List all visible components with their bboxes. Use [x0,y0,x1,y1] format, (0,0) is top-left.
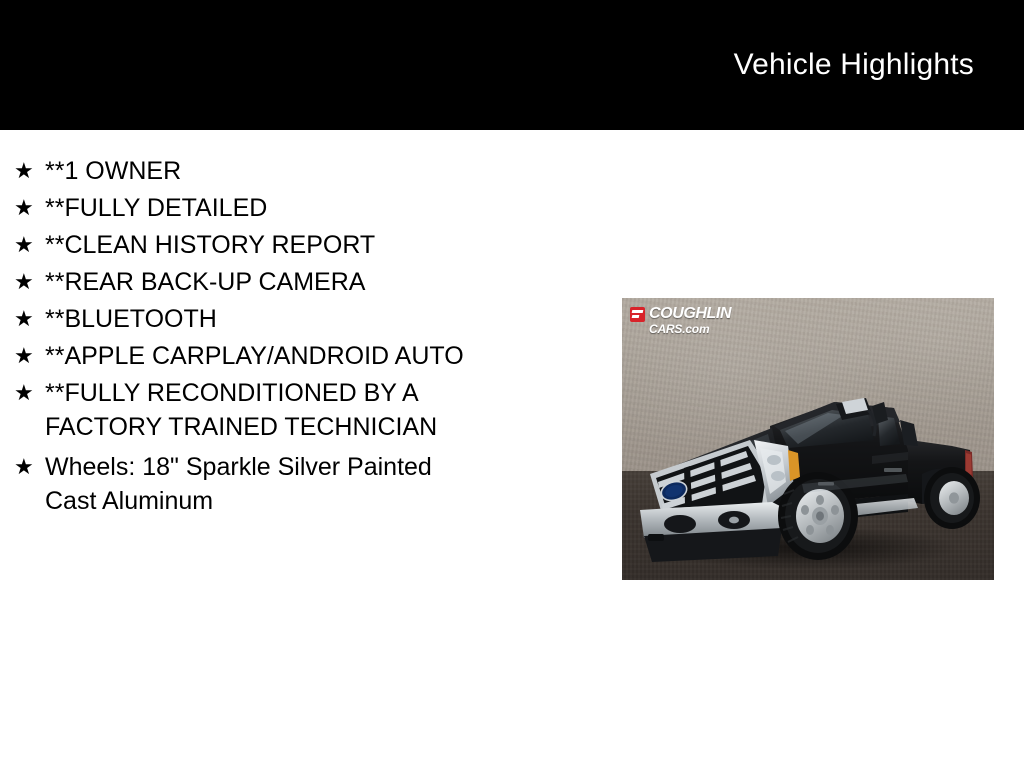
star-bullet-icon: ★ [14,154,34,188]
list-item-label: **APPLE CARPLAY/ANDROID AUTO [45,339,645,373]
list-item: ★ **FULLY RECONDITIONED BY A FACTORY TRA… [0,376,645,444]
header-bar: Vehicle Highlights [0,0,1024,130]
list-item-label: **FULLY DETAILED [45,191,645,225]
list-item: ★ **APPLE CARPLAY/ANDROID AUTO [0,339,645,373]
watermark-brand: COUGHLIN [649,306,731,322]
dealer-watermark: COUGHLIN CARS.com [630,306,731,336]
list-item-label: **FULLY RECONDITIONED BY A FACTORY TRAIN… [45,376,645,444]
truck-illustration [622,298,994,580]
list-item-label: **CLEAN HISTORY REPORT [45,228,645,262]
star-bullet-icon: ★ [14,228,34,262]
list-item: ★ **CLEAN HISTORY REPORT [0,228,645,262]
star-bullet-icon: ★ [14,191,34,225]
watermark-sub: CARS.com [649,323,709,336]
list-item: ★ **FULLY DETAILED [0,191,645,225]
list-item-label: **BLUETOOTH [45,302,645,336]
list-item: ★ **1 OWNER [0,154,645,188]
list-item-label: **1 OWNER [45,154,645,188]
list-item-label: **REAR BACK-UP CAMERA [45,265,645,299]
list-item: ★ **REAR BACK-UP CAMERA [0,265,645,299]
coughlin-logo-icon [630,307,645,322]
vehicle-photo[interactable]: COUGHLIN CARS.com [622,298,994,580]
star-bullet-icon: ★ [14,265,34,299]
star-bullet-icon: ★ [14,376,34,410]
list-item: ★ **BLUETOOTH [0,302,645,336]
star-bullet-icon: ★ [14,450,34,484]
star-bullet-icon: ★ [14,302,34,336]
list-item-label: Wheels: 18" Sparkle Silver Painted Cast … [45,450,645,518]
star-bullet-icon: ★ [14,339,34,373]
list-item: ★ Wheels: 18" Sparkle Silver Painted Cas… [0,450,645,518]
watermark-row: COUGHLIN [630,306,731,322]
page-title: Vehicle Highlights [734,48,974,82]
